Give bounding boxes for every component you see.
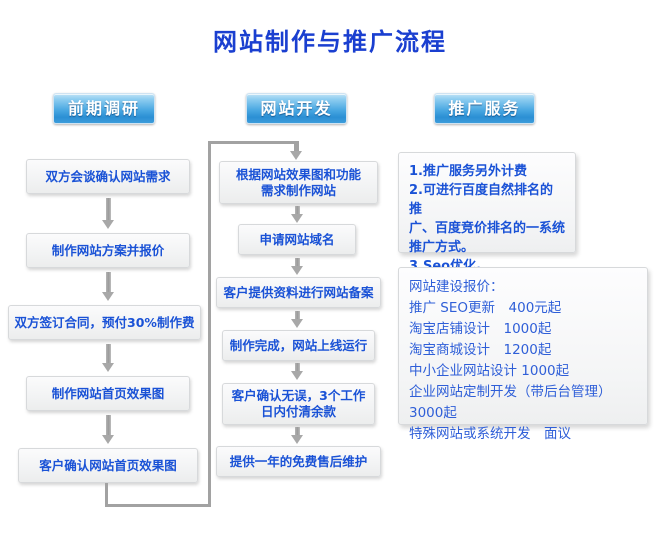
process-box-middle-4[interactable]: 制作完成，网站上线运行 bbox=[222, 330, 375, 361]
process-box-middle-1[interactable]: 根据网站效果图和功能 需求制作网站 bbox=[219, 161, 378, 204]
process-box-left-3[interactable]: 双方签订合同，预付30%制作费 bbox=[8, 305, 201, 340]
page-title: 网站制作与推广流程 bbox=[0, 22, 660, 57]
arrow-middle-2-3 bbox=[291, 258, 304, 276]
note-box-pricing[interactable]: 网站建设报价： 推广 SEO更新 400元起 淘宝店铺设计 1000起 淘宝商城… bbox=[398, 267, 648, 425]
section-header-survey[interactable]: 前期调研 bbox=[53, 93, 155, 124]
process-box-left-1[interactable]: 双方会谈确认网站需求 bbox=[26, 159, 190, 194]
arrow-left-4-5 bbox=[102, 415, 115, 444]
arrow-middle-1-2 bbox=[291, 206, 304, 223]
arrow-middle-3-4 bbox=[291, 311, 304, 329]
connector-bottom-horizontal bbox=[105, 504, 211, 507]
connector-top-horizontal bbox=[208, 141, 298, 144]
section-header-promotion[interactable]: 推广服务 bbox=[434, 93, 535, 124]
connector-into-middle-arrowhead bbox=[290, 151, 302, 160]
process-box-middle-6[interactable]: 提供一年的免费售后维护 bbox=[216, 446, 381, 477]
arrow-left-3-4 bbox=[102, 344, 115, 372]
note-box-promotion-terms[interactable]: 1.推广服务另外计费 2.可进行百度自然排名的推 广、百度竞价排名的一系统 推广… bbox=[398, 152, 576, 253]
process-box-middle-2[interactable]: 申请网站域名 bbox=[238, 224, 356, 255]
arrow-middle-4-5 bbox=[291, 363, 304, 381]
process-box-left-5[interactable]: 客户确认网站首页效果图 bbox=[18, 448, 198, 483]
process-box-middle-5[interactable]: 客户确认无误，3个工作 日内付清余款 bbox=[222, 383, 375, 425]
section-header-develop[interactable]: 网站开发 bbox=[246, 93, 347, 124]
arrow-middle-5-6 bbox=[291, 427, 304, 445]
arrow-left-2-3 bbox=[102, 272, 115, 301]
process-box-middle-3[interactable]: 客户提供资料进行网站备案 bbox=[216, 277, 381, 308]
connector-right-up bbox=[208, 141, 211, 507]
process-box-left-4[interactable]: 制作网站首页效果图 bbox=[26, 376, 190, 411]
arrow-left-1-2 bbox=[102, 198, 115, 229]
process-box-left-2[interactable]: 制作网站方案并报价 bbox=[26, 233, 190, 268]
